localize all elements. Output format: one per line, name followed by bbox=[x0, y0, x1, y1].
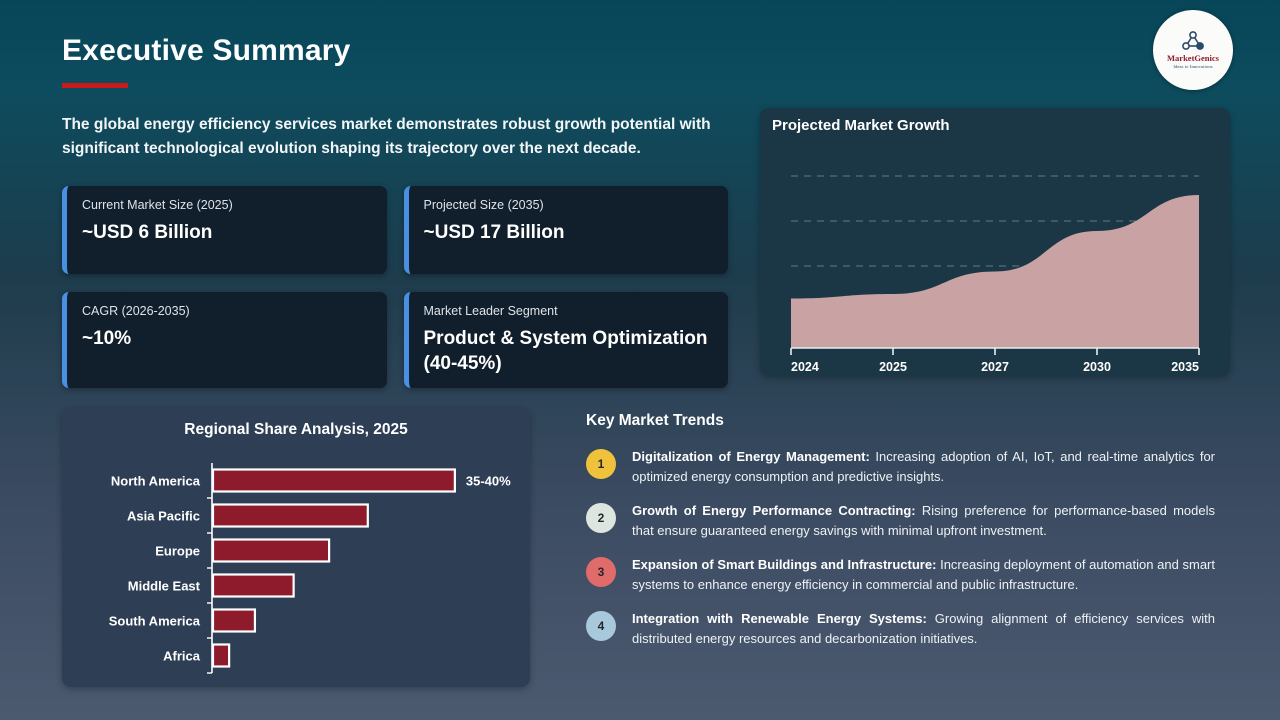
projected-market-growth-chart: 20242025202720302035 bbox=[760, 108, 1230, 376]
trend-description: Integration with Renewable Energy System… bbox=[632, 609, 1215, 648]
kpi-card-projected-size[interactable]: Projected Size (2035) ~USD 17 Billion bbox=[404, 186, 729, 274]
kpi-value: ~USD 17 Billion bbox=[424, 220, 713, 245]
chart-category-labels: North AmericaAsia PacificEuropeMiddle Ea… bbox=[109, 474, 201, 664]
kpi-label: Current Market Size (2025) bbox=[82, 197, 371, 213]
regional-share-analysis-chart: North AmericaAsia PacificEuropeMiddle Ea… bbox=[62, 408, 530, 687]
bar-series-regional-share bbox=[213, 470, 455, 667]
page-title: Executive Summary bbox=[62, 34, 351, 68]
kpi-card-grid: Current Market Size (2025) ~USD 6 Billio… bbox=[62, 186, 728, 388]
trend-number-badge: 4 bbox=[586, 611, 616, 641]
trend-description: Expansion of Smart Buildings and Infrast… bbox=[632, 555, 1215, 594]
key-market-trends-panel: Key Market Trends 1 Digitalization of En… bbox=[586, 412, 1226, 663]
svg-text:2025: 2025 bbox=[879, 360, 907, 374]
intro-paragraph: The global energy efficiency services ma… bbox=[62, 113, 742, 161]
svg-text:Asia Pacific: Asia Pacific bbox=[127, 509, 200, 524]
trend-heading: Digitalization of Energy Management: bbox=[632, 449, 870, 464]
regional-share-analysis-card[interactable]: Regional Share Analysis, 2025 North Amer… bbox=[62, 408, 530, 687]
svg-text:2030: 2030 bbox=[1083, 360, 1111, 374]
kpi-card-current-market-size[interactable]: Current Market Size (2025) ~USD 6 Billio… bbox=[62, 186, 387, 274]
kpi-card-cagr[interactable]: CAGR (2026-2035) ~10% bbox=[62, 292, 387, 388]
chart-x-axis bbox=[791, 348, 1199, 355]
trend-item-4[interactable]: 4 Integration with Renewable Energy Syst… bbox=[586, 609, 1226, 648]
chart-value-labels: 35-40% bbox=[466, 474, 511, 489]
trend-number-badge: 2 bbox=[586, 503, 616, 533]
kpi-label: Market Leader Segment bbox=[424, 303, 713, 319]
area-series-market-size bbox=[791, 195, 1199, 348]
svg-text:Middle East: Middle East bbox=[128, 579, 201, 594]
projected-market-growth-card[interactable]: Projected Market Growth 2024202520272030… bbox=[760, 108, 1230, 376]
svg-text:South America: South America bbox=[109, 614, 201, 629]
chart-x-tick-labels: 20242025202720302035 bbox=[791, 360, 1199, 374]
network-node-icon bbox=[1180, 31, 1206, 53]
slide-header: Executive Summary bbox=[62, 34, 351, 88]
title-accent-bar bbox=[62, 83, 128, 88]
svg-text:2027: 2027 bbox=[981, 360, 1009, 374]
trend-heading: Growth of Energy Performance Contracting… bbox=[632, 503, 916, 518]
svg-text:Europe: Europe bbox=[155, 544, 200, 559]
chart-y-axis bbox=[207, 463, 212, 673]
kpi-row: CAGR (2026-2035) ~10% Market Leader Segm… bbox=[62, 292, 728, 388]
trends-title: Key Market Trends bbox=[586, 412, 1226, 430]
kpi-value: ~USD 6 Billion bbox=[82, 220, 371, 245]
trend-heading: Expansion of Smart Buildings and Infrast… bbox=[632, 557, 936, 572]
svg-text:Africa: Africa bbox=[163, 649, 201, 664]
kpi-value: ~10% bbox=[82, 326, 371, 351]
trend-item-2[interactable]: 2 Growth of Energy Performance Contracti… bbox=[586, 501, 1226, 540]
trend-description: Digitalization of Energy Management: Inc… bbox=[632, 447, 1215, 486]
svg-text:North America: North America bbox=[111, 474, 201, 489]
trend-description: Growth of Energy Performance Contracting… bbox=[632, 501, 1215, 540]
svg-text:2024: 2024 bbox=[791, 360, 819, 374]
company-logo: MarketGenics Ideas to Innovations bbox=[1153, 10, 1233, 90]
kpi-card-market-leader-segment[interactable]: Market Leader Segment Product & System O… bbox=[404, 292, 729, 388]
svg-text:35-40%: 35-40% bbox=[466, 474, 511, 489]
trend-heading: Integration with Renewable Energy System… bbox=[632, 611, 927, 626]
logo-tagline: Ideas to Innovations bbox=[1173, 64, 1212, 69]
trend-item-1[interactable]: 1 Digitalization of Energy Management: I… bbox=[586, 447, 1226, 486]
svg-text:2035: 2035 bbox=[1171, 360, 1199, 374]
trend-number-badge: 1 bbox=[586, 449, 616, 479]
kpi-label: CAGR (2026-2035) bbox=[82, 303, 371, 319]
trend-number-badge: 3 bbox=[586, 557, 616, 587]
kpi-value: Product & System Optimization (40-45%) bbox=[424, 326, 713, 376]
logo-company-name: MarketGenics bbox=[1167, 54, 1219, 63]
trend-item-3[interactable]: 3 Expansion of Smart Buildings and Infra… bbox=[586, 555, 1226, 594]
kpi-label: Projected Size (2035) bbox=[424, 197, 713, 213]
kpi-row: Current Market Size (2025) ~USD 6 Billio… bbox=[62, 186, 728, 274]
